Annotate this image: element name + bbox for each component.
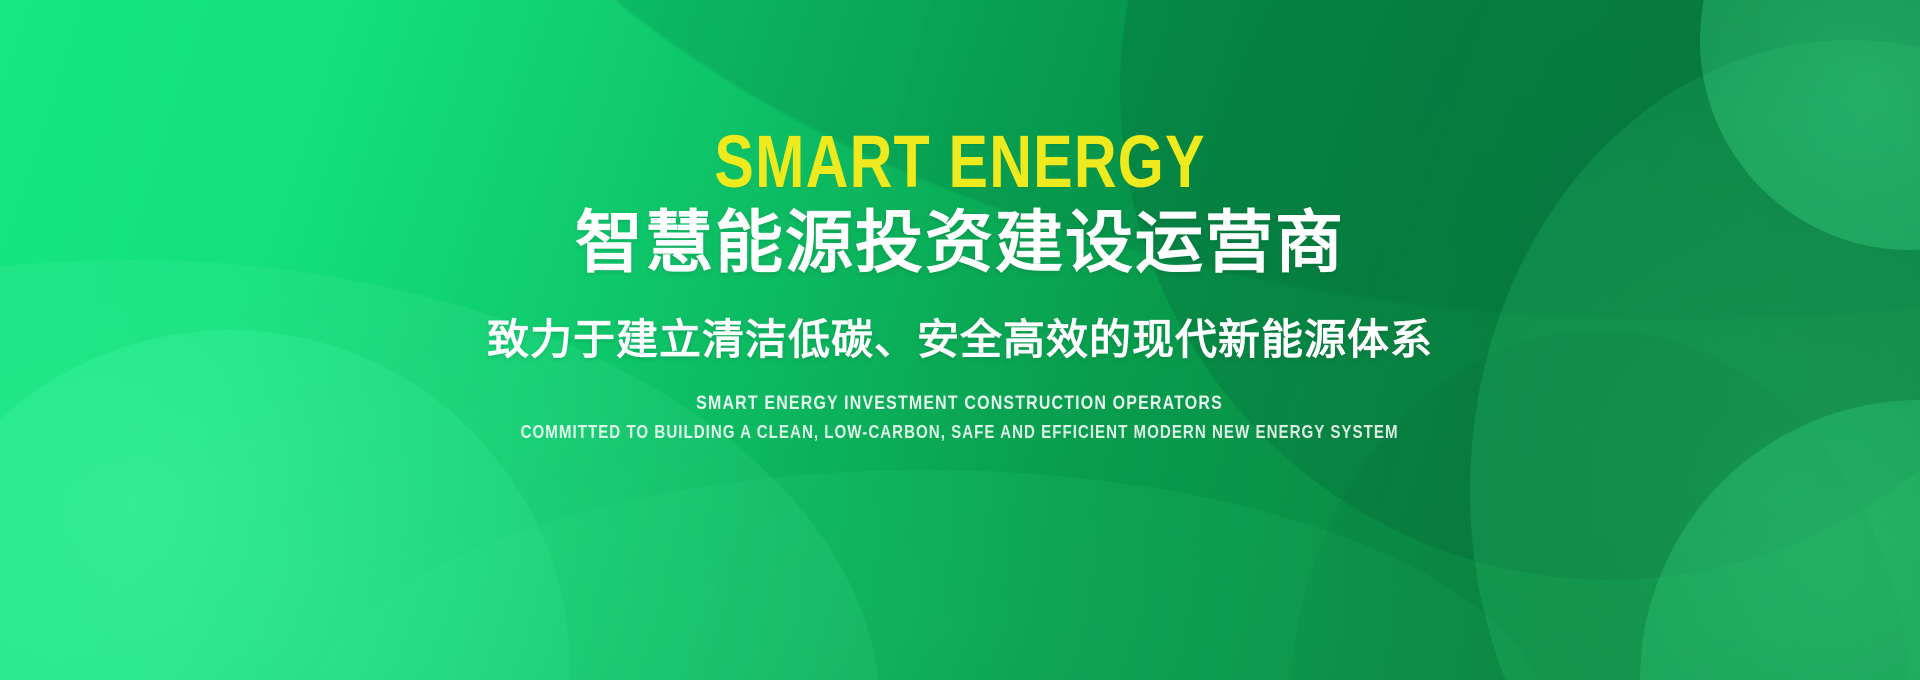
banner-content: SMART ENERGY 智慧能源投资建设运营商 致力于建立清洁低碳、安全高效的… xyxy=(0,0,1920,680)
subtitle-english-line-1: SMART ENERGY INVESTMENT CONSTRUCTION OPE… xyxy=(697,392,1224,416)
subtitle-english-line-2: COMMITTED TO BUILDING A CLEAN, LOW-CARBO… xyxy=(521,421,1399,444)
hero-banner: SMART ENERGY 智慧能源投资建设运营商 致力于建立清洁低碳、安全高效的… xyxy=(0,0,1920,680)
subheadline-chinese: 致力于建立清洁低碳、安全高效的现代新能源体系 xyxy=(487,317,1433,363)
headline-chinese: 智慧能源投资建设运营商 xyxy=(575,208,1345,279)
headline-english: SMART ENERGY xyxy=(714,128,1205,196)
subtitle-english-block: SMART ENERGY INVESTMENT CONSTRUCTION OPE… xyxy=(437,392,1482,444)
